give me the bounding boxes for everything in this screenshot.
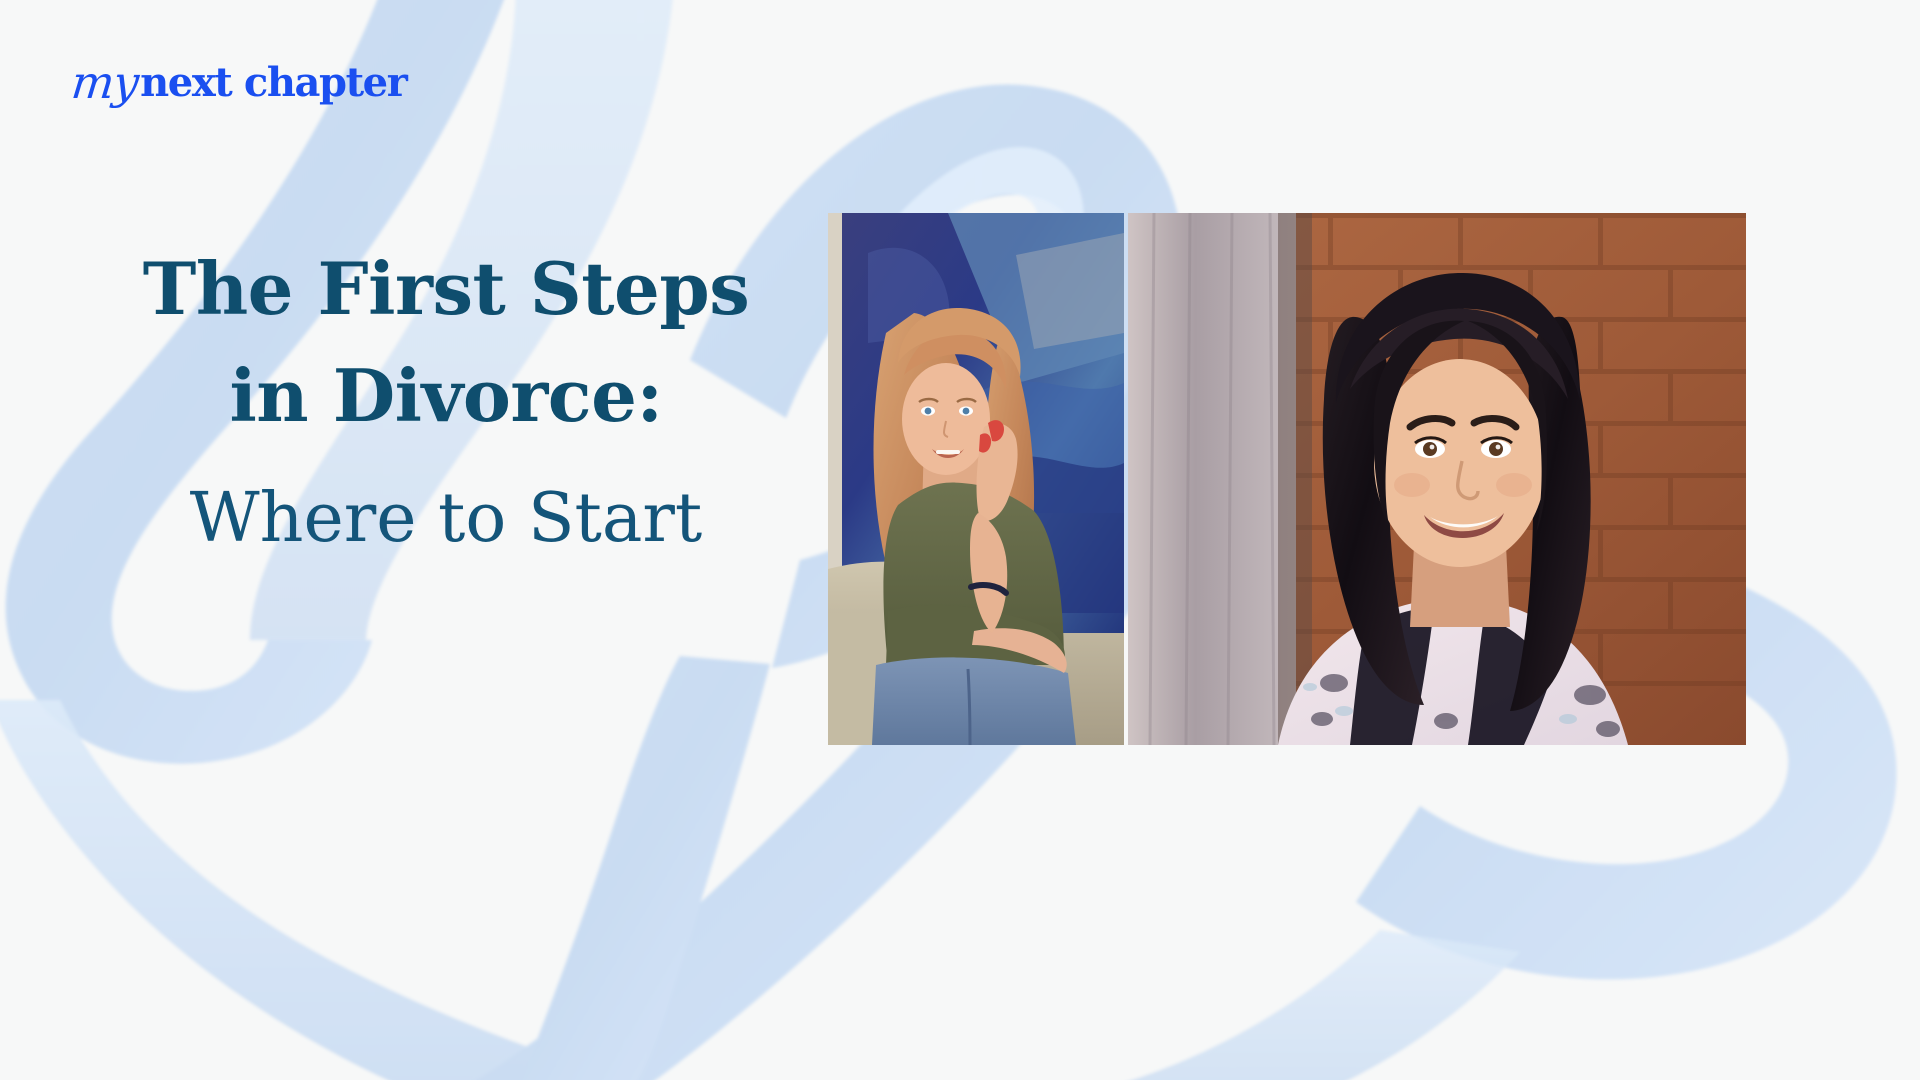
- brand-logo[interactable]: my next chapter: [72, 58, 406, 103]
- photo-woman-dark-hair: [1128, 213, 1746, 745]
- slide-canvas: my next chapter The First Steps in Divor…: [0, 0, 1920, 1080]
- photo-woman-green-blouse: [828, 213, 1124, 745]
- page-subtitle: Where to Start: [96, 470, 796, 569]
- speaker-photo-pair: [828, 213, 1746, 745]
- page-title: The First Steps in Divorce:: [96, 236, 796, 449]
- logo-serif-word: next chapter: [140, 63, 406, 103]
- subheadline-line-1: Where to Start: [96, 470, 796, 569]
- headline-line-2: in Divorce:: [96, 343, 796, 450]
- logo-script-word: my: [69, 60, 140, 105]
- headline-line-1: The First Steps: [96, 236, 796, 343]
